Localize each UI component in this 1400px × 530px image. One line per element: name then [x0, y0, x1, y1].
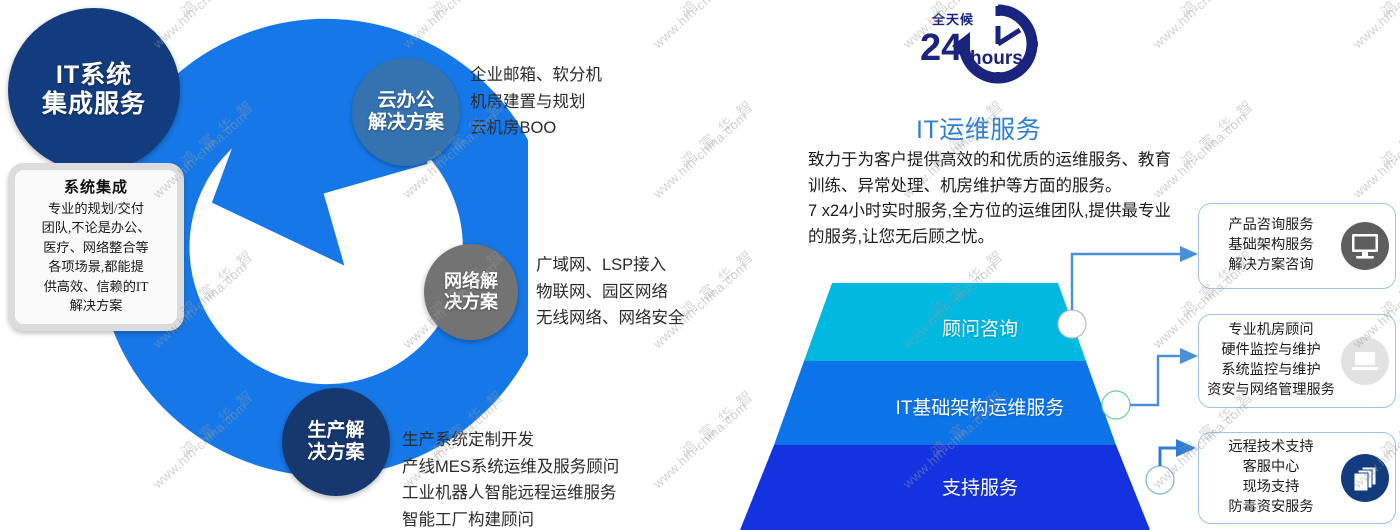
callout-2-lines: 远程技术支持 客服中心 现场支持 防毒资安服务: [1209, 433, 1333, 523]
badge-top-text: 全天候: [931, 12, 974, 27]
card-body-line-5: 解决方案: [20, 296, 172, 315]
bullets-network-item-1: 物联网、园区网络: [536, 279, 685, 306]
bullets-network-item-0: 广域网、LSP接入: [536, 252, 685, 279]
paragraph-line-3: 的服务,让您无后顾之忧。: [808, 225, 1228, 251]
bubble-it-line-1: 集成服务: [42, 90, 146, 120]
bubble-network-line-0: 网络解: [444, 271, 498, 292]
card-title: 系统集成: [20, 176, 172, 197]
card-body-line-1: 团队,不论是办公、: [20, 218, 172, 237]
bubble-cloud-line-0: 云办公: [377, 90, 434, 112]
connector-dot-2[interactable]: [1102, 391, 1130, 419]
callout-1-line-2: 系统监控与维护: [1221, 361, 1320, 381]
bullets-prod-item-1: 产线MES系统运维及服务顾问: [402, 454, 619, 481]
callout-1-line-0: 专业机房顾问: [1228, 321, 1313, 341]
bullets-cloud-item-0: 企业邮箱、软分机: [470, 62, 602, 89]
intro-paragraph: 致力于为客户提供高效的和优质的运维服务、教育 训练、异常处理、机房维护等方面的服…: [808, 148, 1228, 251]
callout-0-line-1: 基础架构服务: [1228, 236, 1313, 256]
callout-product-consulting[interactable]: 产品咨询服务 基础架构服务 解决方案咨询: [1198, 203, 1396, 289]
bullets-cloud-item-1: 机房建置与规划: [470, 89, 602, 116]
card-system-integration: 系统集成 专业的规划/交付 团队,不论是办公、 医疗、网络整合等 各项场景,都能…: [8, 163, 184, 331]
paragraph-line-2: 7 x24小时实时服务,全方位的运维团队,提供最专业: [808, 199, 1228, 225]
monitor-icon: [1341, 222, 1389, 270]
documents-icon: [1341, 454, 1389, 502]
card-body-line-0: 专业的规划/交付: [20, 199, 172, 218]
24-hours-clock-badge: 全天候 24 hours: [902, 2, 1062, 88]
infographic-canvas: IT系统 集成服务 系统集成 专业的规划/交付 团队,不论是办公、 医疗、网络整…: [0, 0, 1400, 530]
bullets-production: 生产系统定制开发 产线MES系统运维及服务顾问 工业机器人智能远程运维服务 智能…: [402, 427, 619, 530]
card-body-line-4: 供高效、信赖的IT: [20, 277, 172, 296]
badge-unit: hours: [970, 48, 1023, 69]
bullets-prod-item-0: 生产系统定制开发: [402, 427, 619, 454]
bubble-network-line-1: 决方案: [444, 292, 498, 313]
bubble-cloud-line-1: 解决方案: [368, 112, 444, 134]
connector-dot-3[interactable]: [1146, 466, 1174, 494]
bubble-prod-line-0: 生产解: [307, 420, 364, 442]
bullets-network: 广域网、LSP接入 物联网、园区网络 无线网络、网络安全: [536, 252, 685, 332]
callout-0-line-2: 解决方案咨询: [1228, 256, 1313, 276]
bullets-cloud-item-2: 云机房BOO: [470, 115, 602, 142]
callout-2-line-0: 远程技术支持: [1228, 438, 1313, 458]
callout-2-line-1: 客服中心: [1243, 458, 1300, 478]
bubble-cloud-office-solution[interactable]: 云办公 解决方案: [352, 58, 460, 166]
bubble-it-system-integration[interactable]: IT系统 集成服务: [8, 8, 180, 172]
callout-1-line-3: 资安与网络管理服务: [1207, 381, 1335, 401]
bullets-network-item-2: 无线网络、网络安全: [536, 305, 685, 332]
callout-0-line-0: 产品咨询服务: [1228, 216, 1313, 236]
it-operations-panel: 全天候 24 hours IT运维服务 致力于为客户提供高效的和优质的运维服务、…: [680, 0, 1400, 530]
paragraph-line-1: 训练、异常处理、机房维护等方面的服务。: [808, 174, 1228, 200]
bullets-prod-item-2: 工业机器人智能远程运维服务: [402, 480, 619, 507]
callout-1-lines: 专业机房顾问 硬件监控与维护 系统监控与维护 资安与网络管理服务: [1209, 315, 1333, 407]
paragraph-line-0: 致力于为客户提供高效的和优质的运维服务、教育: [808, 148, 1228, 174]
card-body-line-3: 各项场景,都能提: [20, 257, 172, 276]
card-body: 专业的规划/交付 团队,不论是办公、 医疗、网络整合等 各项场景,都能提 供高效…: [20, 199, 172, 315]
laptop-icon: [1341, 337, 1389, 385]
badge-number: 24: [920, 27, 962, 69]
bubble-production-solution[interactable]: 生产解 决方案: [282, 388, 390, 496]
bullets-cloud-office: 企业邮箱、软分机 机房建置与规划 云机房BOO: [470, 62, 602, 142]
connector-dot-1[interactable]: [1058, 310, 1086, 338]
bullets-prod-item-3: 智能工厂构建顾问: [402, 507, 619, 530]
bubble-network-solution[interactable]: 网络解 决方案: [424, 244, 518, 340]
card-body-line-2: 医疗、网络整合等: [20, 238, 172, 257]
callout-0-lines: 产品咨询服务 基础架构服务 解决方案咨询: [1209, 204, 1333, 288]
page-title: IT运维服务: [916, 110, 1041, 146]
callout-datacenter-maintenance[interactable]: 专业机房顾问 硬件监控与维护 系统监控与维护 资安与网络管理服务: [1198, 314, 1396, 408]
callout-remote-support[interactable]: 远程技术支持 客服中心 现场支持 防毒资安服务: [1198, 432, 1396, 524]
callout-2-line-2: 现场支持: [1243, 478, 1300, 498]
bubble-prod-line-1: 决方案: [307, 442, 364, 464]
callout-1-line-1: 硬件监控与维护: [1221, 341, 1320, 361]
bubble-it-line-0: IT系统: [56, 61, 132, 91]
callout-2-line-3: 防毒资安服务: [1228, 498, 1313, 518]
